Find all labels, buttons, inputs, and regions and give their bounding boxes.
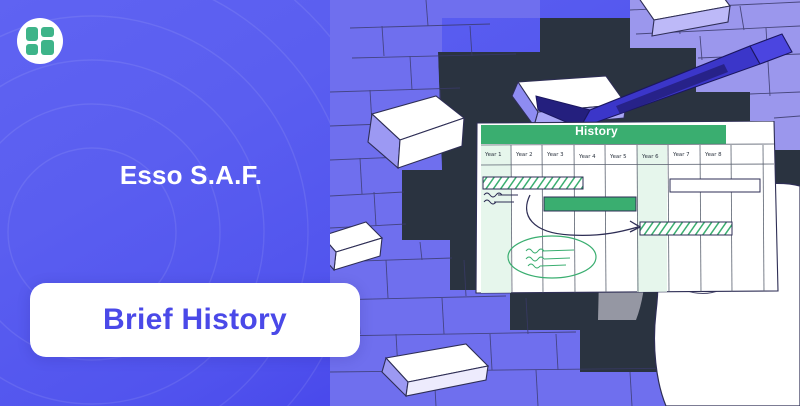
logo-tile-bottom-left <box>26 44 38 55</box>
brief-history-button[interactable]: Brief History <box>30 283 360 357</box>
gantt-bar-task-4 <box>640 222 732 235</box>
history-gantt-chart: History Year 1 Year 2 Year 3 Year 4 Year… <box>474 121 800 297</box>
logo-tile-top-right <box>41 27 54 37</box>
grid-tiles-logo-icon <box>17 18 63 64</box>
hero-banner: History Year 1 Year 2 Year 3 Year 4 Year… <box>0 0 800 406</box>
gantt-bar-task-3 <box>670 179 760 192</box>
shaded-column-year1 <box>481 145 511 293</box>
chart-title-bar <box>481 125 726 144</box>
logo-tile-top-left <box>26 27 38 41</box>
brief-history-button-label: Brief History <box>103 303 287 337</box>
gantt-bar-task-1 <box>483 177 583 189</box>
logo-tile-bottom-right <box>41 40 54 55</box>
shaded-column-year5 <box>637 145 667 293</box>
hero-subtitle: Esso S.A.F. <box>0 160 382 191</box>
gantt-bar-task-2 <box>544 197 636 211</box>
